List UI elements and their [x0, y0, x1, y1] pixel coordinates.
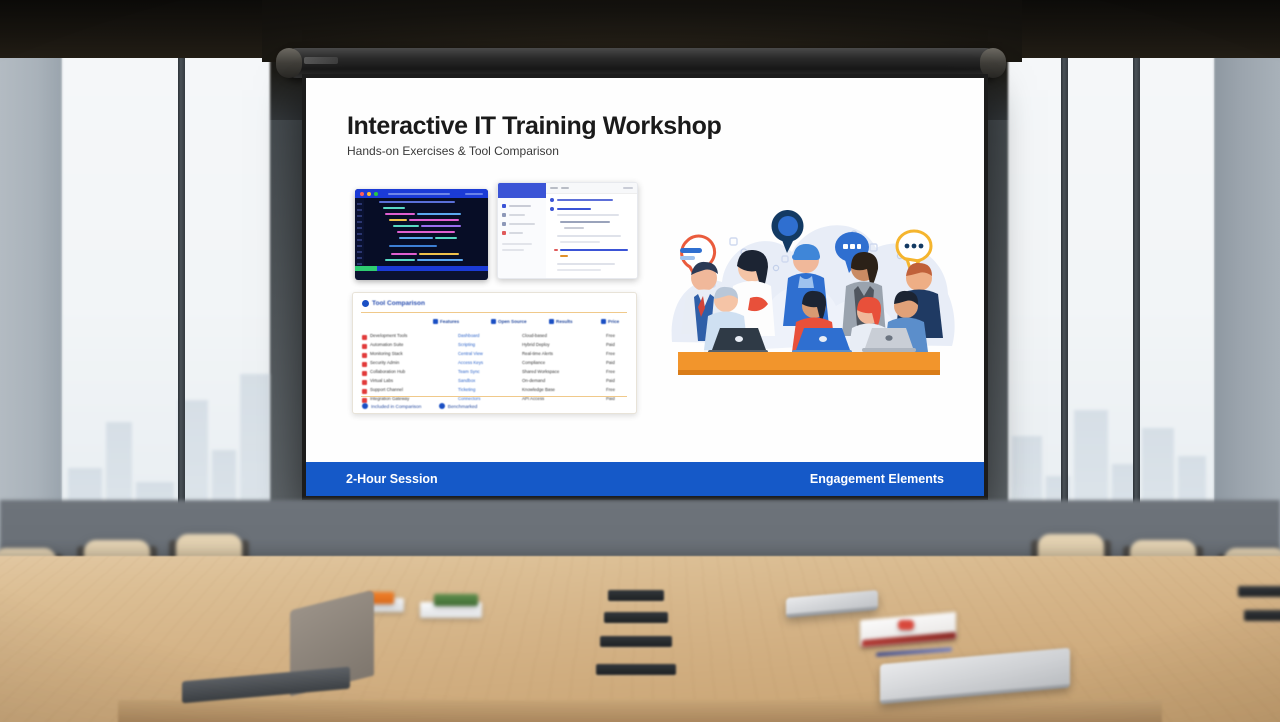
table-column-header-3: Results	[549, 319, 573, 324]
table-title-divider	[361, 312, 627, 313]
team-collaboration-illustration	[664, 182, 962, 378]
row-bullet-icon	[362, 371, 367, 376]
cable-port[interactable]	[596, 664, 676, 675]
maximize-icon[interactable]	[374, 192, 378, 196]
wall-pillar-left	[0, 0, 62, 560]
document-sidebar[interactable]	[498, 183, 547, 278]
table-legend-divider	[361, 396, 627, 397]
code-editor-statusbar	[355, 266, 488, 271]
table-row[interactable]: Support Channel Ticketing Knowledge Base…	[362, 387, 627, 396]
roller-end-cap-left	[276, 48, 302, 78]
conference-table-edge	[118, 700, 1162, 722]
cable-port[interactable]	[600, 636, 672, 647]
window-mullion-left	[178, 0, 185, 560]
table-column-header-4: Price	[601, 319, 619, 324]
laptop-keyboard[interactable]	[182, 667, 350, 704]
wall-pillar-right	[1214, 0, 1280, 560]
comparison-table-card[interactable]: Tool Comparison Features Open Source Res…	[352, 292, 637, 414]
presentation-slide: Interactive IT Training Workshop Hands-o…	[306, 78, 984, 496]
cable-port[interactable]	[604, 612, 668, 623]
slide-subtitle: Hands-on Exercises & Tool Comparison	[347, 144, 559, 158]
document-content[interactable]	[546, 183, 637, 278]
window-right	[1008, 0, 1214, 560]
roller-brand-label	[304, 57, 338, 64]
table-title-bullet-icon	[362, 300, 369, 307]
row-bullet-icon	[362, 380, 367, 385]
legend-bullet-icon	[362, 403, 368, 409]
row-bullet-icon	[362, 389, 367, 394]
table-row[interactable]: Automation Suite Scripting Hybrid Deploy…	[362, 342, 627, 351]
table-row[interactable]: Monitoring Stack Central View Real-time …	[362, 351, 627, 360]
table-column-header-2: Open Source	[491, 319, 527, 324]
minimize-icon[interactable]	[367, 192, 371, 196]
cable-port[interactable]	[1244, 610, 1280, 621]
row-bullet-icon	[362, 362, 367, 367]
table-row[interactable]: Virtual Labs Sandbox On-demand Paid	[362, 378, 627, 387]
code-editor-titlebar	[355, 189, 488, 198]
document-toolbar[interactable]	[546, 183, 637, 194]
open-laptop[interactable]	[182, 600, 372, 700]
row-bullet-icon	[362, 335, 367, 340]
cable-port[interactable]	[608, 590, 664, 601]
projection-screen: Interactive IT Training Workshop Hands-o…	[306, 78, 984, 496]
green-book[interactable]	[434, 594, 478, 606]
footer-left-label: 2-Hour Session	[346, 472, 438, 486]
close-icon[interactable]	[360, 192, 364, 196]
table-row[interactable]: Security Admin Access Keys Compliance Pa…	[362, 360, 627, 369]
table-legend: Included in Comparison Benchmarked	[362, 403, 493, 410]
table-column-header-1: Features	[433, 319, 459, 324]
cable-port[interactable]	[1238, 586, 1280, 597]
row-bullet-icon	[362, 344, 367, 349]
window-mullion-right-b	[1061, 0, 1068, 560]
legend-bullet-icon	[439, 403, 445, 409]
projection-screen-frame: Interactive IT Training Workshop Hands-o…	[302, 74, 988, 500]
table-row[interactable]: Development Tools Dashboard Cloud-based …	[362, 333, 627, 342]
newspaper-accent	[898, 620, 914, 630]
row-bullet-icon	[362, 353, 367, 358]
document-window[interactable]	[497, 182, 638, 279]
document-sidebar-header	[498, 183, 546, 198]
footer-right-label: Engagement Elements	[810, 472, 944, 486]
window-left	[62, 0, 270, 560]
slide-footer-bar: 2-Hour Session Engagement Elements	[306, 462, 984, 496]
slide-title: Interactive IT Training Workshop	[347, 112, 721, 141]
table-row[interactable]: Collaboration Hub Team Sync Shared Works…	[362, 369, 627, 378]
code-editor-window[interactable]	[355, 189, 488, 280]
comparison-table-title: Tool Comparison	[372, 300, 425, 307]
conference-room-scene: Interactive IT Training Workshop Hands-o…	[0, 0, 1280, 722]
code-gutter	[355, 198, 364, 271]
window-mullion-right-a	[1133, 0, 1140, 560]
code-editor-body[interactable]	[355, 198, 488, 271]
